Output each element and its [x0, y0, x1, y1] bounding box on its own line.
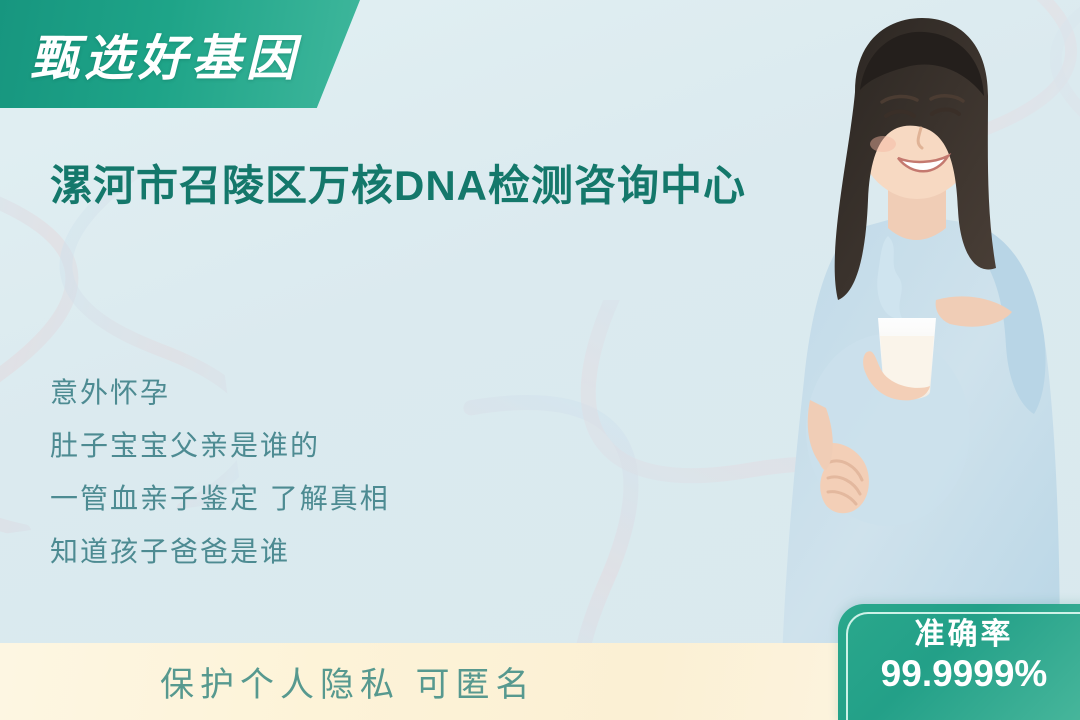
accuracy-badge: 准确率 99.9999% [838, 604, 1080, 720]
copy-line: 一管血亲子鉴定 了解真相 [50, 472, 650, 525]
pregnant-woman-photo [760, 0, 1080, 660]
copy-line: 肚子宝宝父亲是谁的 [50, 419, 650, 472]
privacy-banner-text: 保护个人隐私 可匿名 [160, 657, 535, 706]
copy-line: 意外怀孕 [50, 366, 650, 419]
accuracy-value: 99.9999% [838, 653, 1080, 696]
page-title: 漯河市召陵区万核DNA检测咨询中心 [50, 158, 840, 213]
brand-logo-text: 甄选好基因 [30, 19, 300, 90]
copy-line: 知道孩子爸爸是谁 [50, 525, 650, 578]
promo-poster: 甄选好基因 漯河市召陵区万核DNA检测咨询中心 意外怀孕 肚子宝宝父亲是谁的 一… [0, 0, 1080, 720]
accuracy-label: 准确率 [838, 618, 1080, 653]
marketing-copy-list: 意外怀孕 肚子宝宝父亲是谁的 一管血亲子鉴定 了解真相 知道孩子爸爸是谁 [50, 366, 650, 578]
brand-logo-badge: 甄选好基因 [0, 0, 360, 108]
